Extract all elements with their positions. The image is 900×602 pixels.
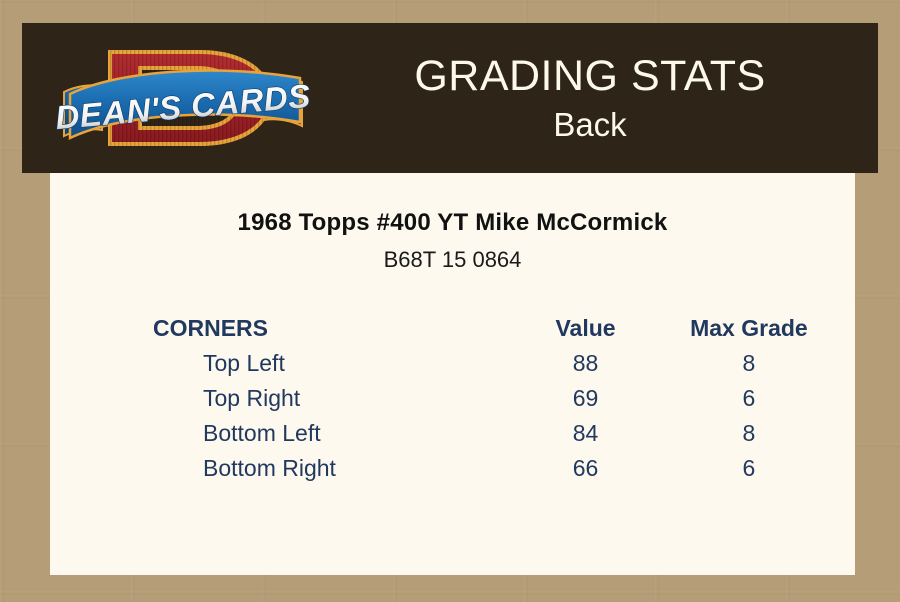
header-band: DEAN'S CARDS GRADING STATS Back: [22, 23, 878, 173]
page-subtitle: Back: [553, 105, 626, 145]
row-label-bottom-right: Bottom Right: [153, 451, 506, 486]
content-panel: 1968 Topps #400 YT Mike McCormick B68T 1…: [50, 173, 855, 575]
row-label-top-left: Top Left: [153, 346, 506, 381]
grading-stats-table: CORNERS Value Max Grade Top Left 88 8 To…: [153, 311, 833, 486]
row-value-bottom-right: 66: [506, 451, 665, 486]
card-id: B68T 15 0864: [50, 237, 855, 273]
table-row: Bottom Right 66 6: [153, 451, 833, 486]
header-titles: GRADING STATS Back: [322, 23, 878, 173]
row-value-bottom-left: 84: [506, 416, 665, 451]
column-header-value: Value: [506, 311, 665, 346]
row-label-bottom-left: Bottom Left: [153, 416, 506, 451]
row-max-grade-bottom-right: 6: [665, 451, 833, 486]
page-title: GRADING STATS: [414, 51, 765, 101]
table-row: Bottom Left 84 8: [153, 416, 833, 451]
row-label-top-right: Top Right: [153, 381, 506, 416]
table-header-row: CORNERS Value Max Grade: [153, 311, 833, 346]
row-max-grade-top-left: 8: [665, 346, 833, 381]
row-max-grade-top-right: 6: [665, 381, 833, 416]
row-value-top-left: 88: [506, 346, 665, 381]
card-title: 1968 Topps #400 YT Mike McCormick: [50, 173, 855, 237]
deans-cards-logo[interactable]: DEAN'S CARDS: [50, 26, 318, 171]
table-row: Top Left 88 8: [153, 346, 833, 381]
row-max-grade-bottom-left: 8: [665, 416, 833, 451]
column-header-corners: CORNERS: [153, 311, 506, 346]
table-row: Top Right 69 6: [153, 381, 833, 416]
column-header-max-grade: Max Grade: [665, 311, 833, 346]
row-value-top-right: 69: [506, 381, 665, 416]
